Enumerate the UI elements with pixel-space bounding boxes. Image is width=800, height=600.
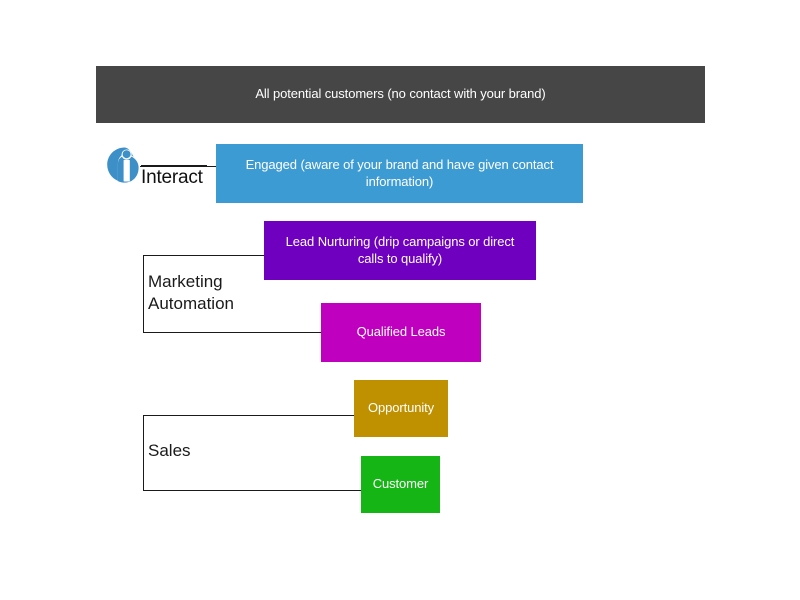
funnel-stage-engaged: Engaged (aware of your brand and have gi… [216,144,583,203]
funnel-stage-lead-nurturing: Lead Nurturing (drip campaigns or direct… [264,221,536,280]
interact-logo-icon [104,145,144,185]
funnel-stage-customer: Customer [361,456,440,513]
funnel-stage-qualified-leads: Qualified Leads [321,303,481,362]
funnel-diagram: All potential customers (no contact with… [0,0,800,600]
group-label-sales: Sales [148,440,191,462]
connector-interact [140,166,218,167]
group-label-interact: Interact [141,165,207,189]
group-interact: Interact [104,143,222,201]
group-label-marketing-automation: Marketing Automation [148,271,234,316]
funnel-stage-all-potential-customers: All potential customers (no contact with… [96,66,705,123]
funnel-stage-opportunity: Opportunity [354,380,448,437]
